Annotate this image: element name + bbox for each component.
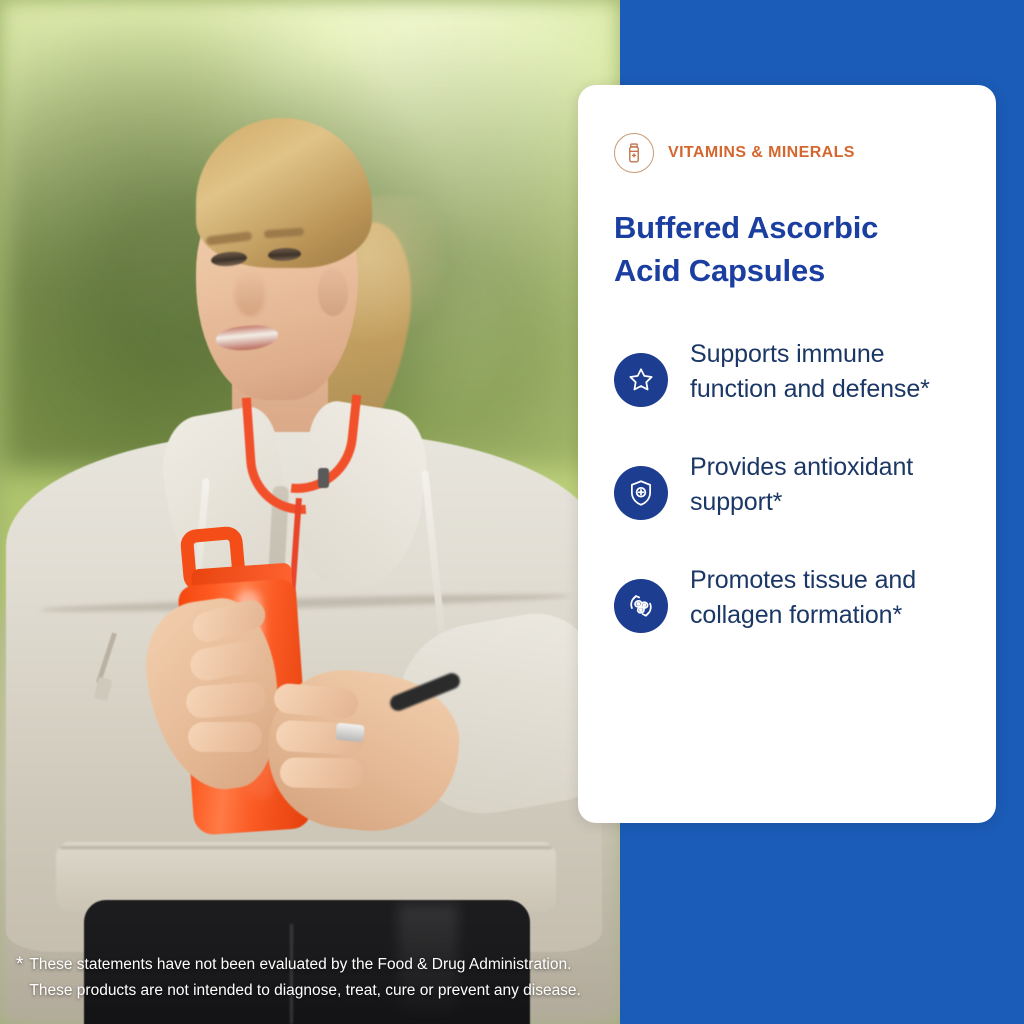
star-icon [614,353,668,407]
finger-ring [335,723,365,743]
ear [318,268,348,316]
shield-cross-icon [614,466,668,520]
woman-figure [0,0,620,1024]
earbud-control [318,468,329,488]
list-item-label: Promotes tissue and collagen formation* [690,563,962,634]
disclaimer-asterisk: * [16,952,23,1005]
nose [235,270,265,316]
list-item: Provides antioxidant support* [614,450,962,521]
category-badge: VITAMINS & MINERALS [614,133,962,173]
lifestyle-photo [0,0,620,1024]
finger [280,757,365,788]
fda-disclaimer: * These statements have not been evaluat… [16,952,616,1005]
disclaimer-line-2: These products are not intended to diagn… [29,982,580,999]
product-info-card: VITAMINS & MINERALS Buffered Ascorbic Ac… [578,85,996,823]
list-item-label: Provides antioxidant support* [690,450,962,521]
finger [188,722,262,752]
hair-top [196,118,372,268]
product-lifestyle-banner: VITAMINS & MINERALS Buffered Ascorbic Ac… [0,0,1024,1024]
benefits-list: Supports immune function and defense* Pr… [614,337,962,634]
disclaimer-line-1: These statements have not been evaluated… [29,956,571,973]
supplement-bottle-icon [614,133,654,173]
list-item: Supports immune function and defense* [614,337,962,408]
list-item: Promotes tissue and collagen formation* [614,563,962,634]
cell-renewal-icon [614,579,668,633]
page-title: Buffered Ascorbic Acid Capsules [614,207,944,293]
list-item-label: Supports immune function and defense* [690,337,962,408]
jacket-hem-seam [60,846,552,849]
category-badge-label: VITAMINS & MINERALS [668,144,855,162]
